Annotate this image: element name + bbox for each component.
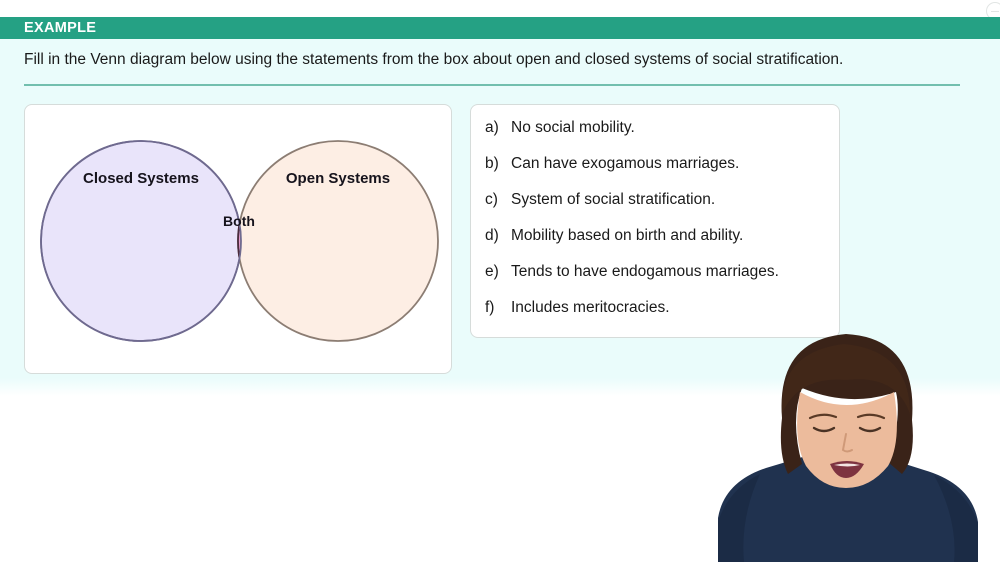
venn-label-left: Closed Systems — [83, 170, 199, 187]
venn-label-overlap: Both — [223, 213, 255, 229]
statement-marker: e) — [485, 263, 511, 281]
statement-item[interactable]: b) Can have exogamous marriages. — [471, 155, 839, 191]
statement-text: System of social stratification. — [511, 191, 715, 209]
statement-item[interactable]: d) Mobility based on birth and ability. — [471, 227, 839, 263]
statement-item[interactable]: f) Includes meritocracies. — [471, 299, 839, 335]
statement-marker: b) — [485, 155, 511, 173]
presenter-brow-left — [810, 415, 836, 418]
venn-diagram[interactable]: Closed Systems Open Systems Both — [25, 105, 451, 373]
presenter-sleeve-right — [934, 475, 978, 562]
statement-text: Tends to have endogamous marriages. — [511, 263, 779, 281]
statement-item[interactable]: e) Tends to have endogamous marriages. — [471, 263, 839, 299]
statement-text: Can have exogamous marriages. — [511, 155, 739, 173]
section-divider — [24, 84, 960, 86]
presenter-eye-left — [814, 428, 834, 431]
top-white-strip — [0, 0, 1000, 17]
statement-marker: c) — [485, 191, 511, 209]
presenter-torso — [718, 456, 978, 562]
venn-label-right: Open Systems — [286, 170, 390, 187]
statement-text: Includes meritocracies. — [511, 299, 670, 317]
instruction-text: Fill in the Venn diagram below using the… — [24, 50, 974, 71]
statement-marker: a) — [485, 119, 511, 137]
statement-text: Mobility based on birth and ability. — [511, 227, 743, 245]
example-header-bar: EXAMPLE — [0, 17, 1000, 39]
statement-item[interactable]: c) System of social stratification. — [471, 191, 839, 227]
presenter-brow-right — [858, 415, 884, 418]
example-header-label: EXAMPLE — [24, 20, 96, 36]
presenter-mouth — [830, 461, 864, 478]
statement-marker: d) — [485, 227, 511, 245]
presenter-nose — [843, 434, 852, 452]
statement-marker: f) — [485, 299, 511, 317]
content-fade — [0, 378, 1000, 396]
presenter-face — [797, 392, 897, 488]
presenter-teeth — [834, 464, 860, 467]
statements-card: a) No social mobility. b) Can have exoga… — [470, 104, 840, 338]
presenter-neck — [818, 430, 874, 475]
statement-text: No social mobility. — [511, 119, 635, 137]
presenter-sleeve-left — [718, 474, 760, 562]
statement-item[interactable]: a) No social mobility. — [471, 119, 839, 155]
presenter-eye-right — [860, 428, 880, 431]
page-root: EXAMPLE Fill in the Venn diagram below u… — [0, 0, 1000, 562]
venn-diagram-card: Closed Systems Open Systems Both — [24, 104, 452, 374]
